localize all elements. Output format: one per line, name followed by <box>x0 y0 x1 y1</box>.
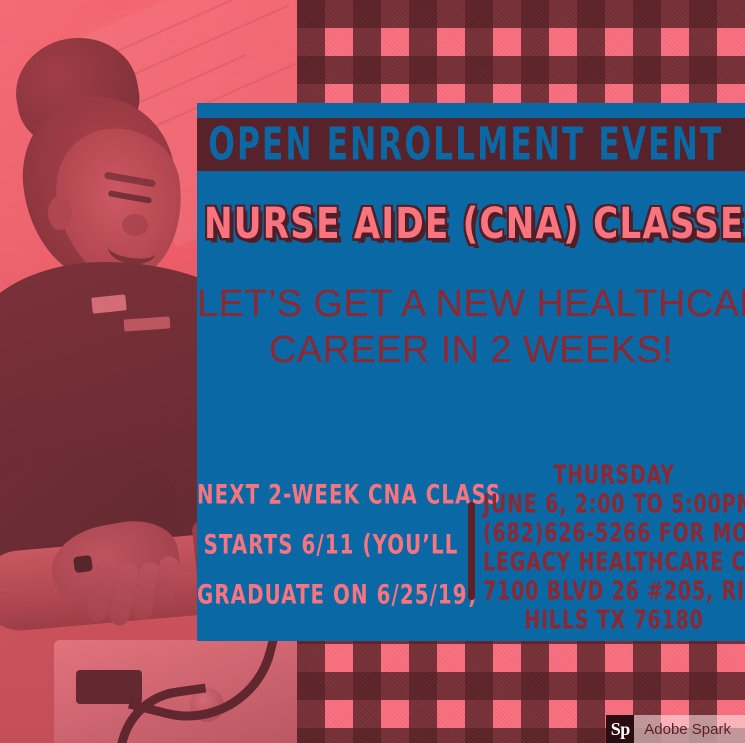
details-columns: NEXT 2-WEEK CNA CLASS STARTS 6/11 (YOU’L… <box>197 455 745 641</box>
adobe-spark-watermark[interactable]: Sp Adobe Spark <box>606 715 745 743</box>
contact-line-6: HILLS TX 76180 <box>483 603 745 639</box>
adobe-spark-label: Adobe Spark <box>634 715 739 743</box>
poster-canvas: OPEN ENROLLMENT EVENT NURSE AIDE (CNA) C… <box>0 0 745 743</box>
program-subheadline: NURSE AIDE (CNA) CLASSES <box>197 199 745 248</box>
tagline-line-2: CAREER IN 2 WEEKS! <box>197 327 745 373</box>
event-title: OPEN ENROLLMENT EVENT <box>197 118 723 170</box>
event-title-band: OPEN ENROLLMENT EVENT <box>197 118 745 171</box>
tagline: LET’S GET A NEW HEALTHCARE CAREER IN 2 W… <box>197 281 745 373</box>
class-schedule-line-3: GRADUATE ON 6/25/19) <box>197 566 465 627</box>
class-schedule-column: NEXT 2-WEEK CNA CLASS STARTS 6/11 (YOU’L… <box>197 471 465 621</box>
adobe-spark-logo-icon: Sp <box>606 715 634 743</box>
tagline-line-1: LET’S GET A NEW HEALTHCARE <box>197 281 745 327</box>
contact-info-column: THURSDAY JUNE 6, 2:00 TO 5:00PM, CALL (6… <box>483 461 745 635</box>
column-divider <box>468 502 475 600</box>
content-panel: OPEN ENROLLMENT EVENT NURSE AIDE (CNA) C… <box>197 103 745 641</box>
